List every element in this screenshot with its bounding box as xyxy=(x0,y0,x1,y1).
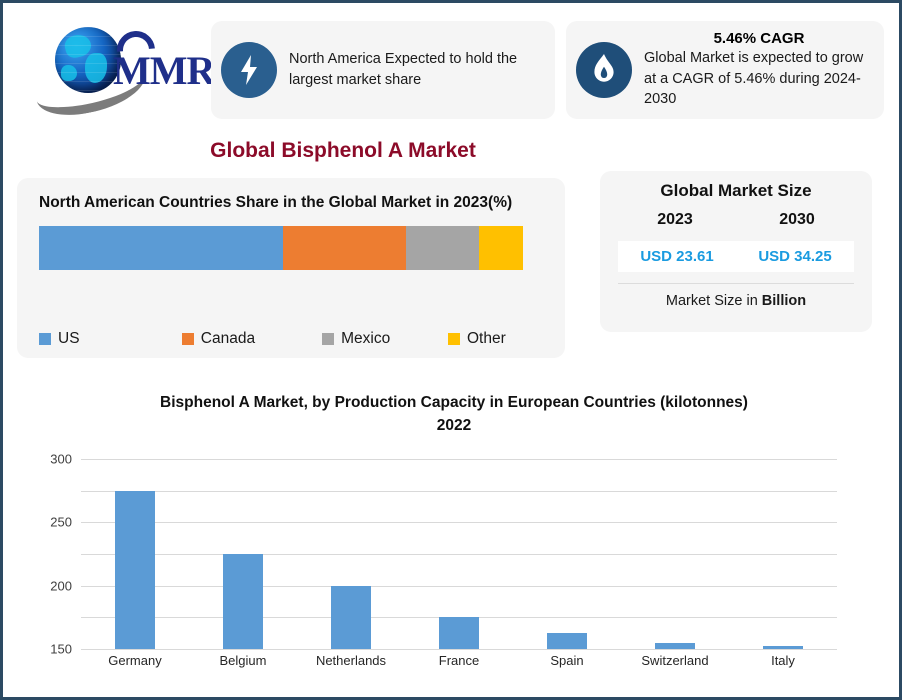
bar-slot-belgium xyxy=(189,459,297,649)
fact-card-north-america: North America Expected to hold the large… xyxy=(211,21,555,119)
share-chart-card: North American Countries Share in the Gl… xyxy=(17,178,565,358)
production-capacity-chart: Bisphenol A Market, by Production Capaci… xyxy=(3,391,902,697)
legend-label-other: Other xyxy=(467,330,506,348)
production-chart-title: Bisphenol A Market, by Production Capaci… xyxy=(3,391,902,438)
bar-slot-spain xyxy=(513,459,621,649)
plot-area: 050100150200250300 xyxy=(81,459,837,649)
bar-slot-netherlands xyxy=(297,459,405,649)
legend-item-us: US xyxy=(39,330,80,348)
legend-swatch-canada xyxy=(182,333,194,345)
legend-label-canada: Canada xyxy=(201,330,255,348)
stacked-segment-mexico xyxy=(406,226,479,270)
x-axis-labels: GermanyBelgiumNetherlandsFranceSpainSwit… xyxy=(81,653,837,668)
bar-italy xyxy=(763,646,803,649)
x-axis-label-belgium: Belgium xyxy=(189,653,297,668)
logo-text: MMR xyxy=(113,47,214,94)
stacked-segment-other xyxy=(479,226,523,270)
market-size-years: 2023 2030 xyxy=(600,211,872,229)
lightning-bolt-icon xyxy=(221,42,277,98)
stacked-bar-chart xyxy=(39,226,523,270)
bar-netherlands xyxy=(331,586,371,649)
x-axis-label-italy: Italy xyxy=(729,653,837,668)
legend-label-mexico: Mexico xyxy=(341,330,390,348)
bar-switzerland xyxy=(655,643,695,649)
market-size-footnote-prefix: Market Size in xyxy=(666,293,762,309)
legend-item-other: Other xyxy=(448,330,506,348)
legend-item-mexico: Mexico xyxy=(322,330,390,348)
x-axis-label-france: France xyxy=(405,653,513,668)
x-axis-label-switzerland: Switzerland xyxy=(621,653,729,668)
x-axis-label-germany: Germany xyxy=(81,653,189,668)
legend-swatch-other xyxy=(448,333,460,345)
flame-icon xyxy=(576,42,632,98)
bar-germany xyxy=(115,491,155,649)
stacked-segment-canada xyxy=(283,226,406,270)
page-title: Global Bisphenol A Market xyxy=(3,139,683,163)
mmr-logo: MMR xyxy=(27,17,217,117)
fact-text-north-america: North America Expected to hold the large… xyxy=(289,49,545,90)
y-axis-tick: 300 xyxy=(50,452,72,467)
bar-slot-switzerland xyxy=(621,459,729,649)
market-size-card: Global Market Size 2023 2030 USD 23.61 U… xyxy=(600,171,872,332)
y-axis-tick: 150 xyxy=(50,642,72,657)
x-axis-label-spain: Spain xyxy=(513,653,621,668)
market-size-value-start: USD 23.61 xyxy=(640,248,713,265)
y-axis-tick: 200 xyxy=(50,578,72,593)
x-axis-label-netherlands: Netherlands xyxy=(297,653,405,668)
legend-swatch-mexico xyxy=(322,333,334,345)
cagr-heading: 5.46% CAGR xyxy=(644,30,874,47)
market-size-heading: Global Market Size xyxy=(600,181,872,201)
header-row: MMR North America Expected to hold the l… xyxy=(3,3,902,125)
bar-slot-france xyxy=(405,459,513,649)
market-size-footnote: Market Size in Billion xyxy=(618,283,854,309)
bar-series xyxy=(81,459,837,649)
legend-item-canada: Canada xyxy=(182,330,255,348)
fact-text-cagr: Global Market is expected to grow at a C… xyxy=(644,48,874,110)
bar-slot-germany xyxy=(81,459,189,649)
market-size-year-end: 2030 xyxy=(779,211,815,229)
bar-france xyxy=(439,617,479,649)
y-axis-tick: 250 xyxy=(50,515,72,530)
market-size-values: USD 23.61 USD 34.25 xyxy=(618,241,854,272)
gridline: 0 xyxy=(81,649,837,650)
market-size-year-start: 2023 xyxy=(657,211,693,229)
bar-spain xyxy=(547,633,587,649)
legend-swatch-us xyxy=(39,333,51,345)
market-size-value-end: USD 34.25 xyxy=(758,248,831,265)
infographic-root: MMR North America Expected to hold the l… xyxy=(0,0,902,700)
share-chart-title: North American Countries Share in the Gl… xyxy=(39,192,543,214)
bar-belgium xyxy=(223,554,263,649)
legend-label-us: US xyxy=(58,330,80,348)
bar-slot-italy xyxy=(729,459,837,649)
stacked-segment-us xyxy=(39,226,283,270)
fact-card-cagr: 5.46% CAGR Global Market is expected to … xyxy=(566,21,884,119)
market-size-footnote-unit: Billion xyxy=(762,293,806,309)
